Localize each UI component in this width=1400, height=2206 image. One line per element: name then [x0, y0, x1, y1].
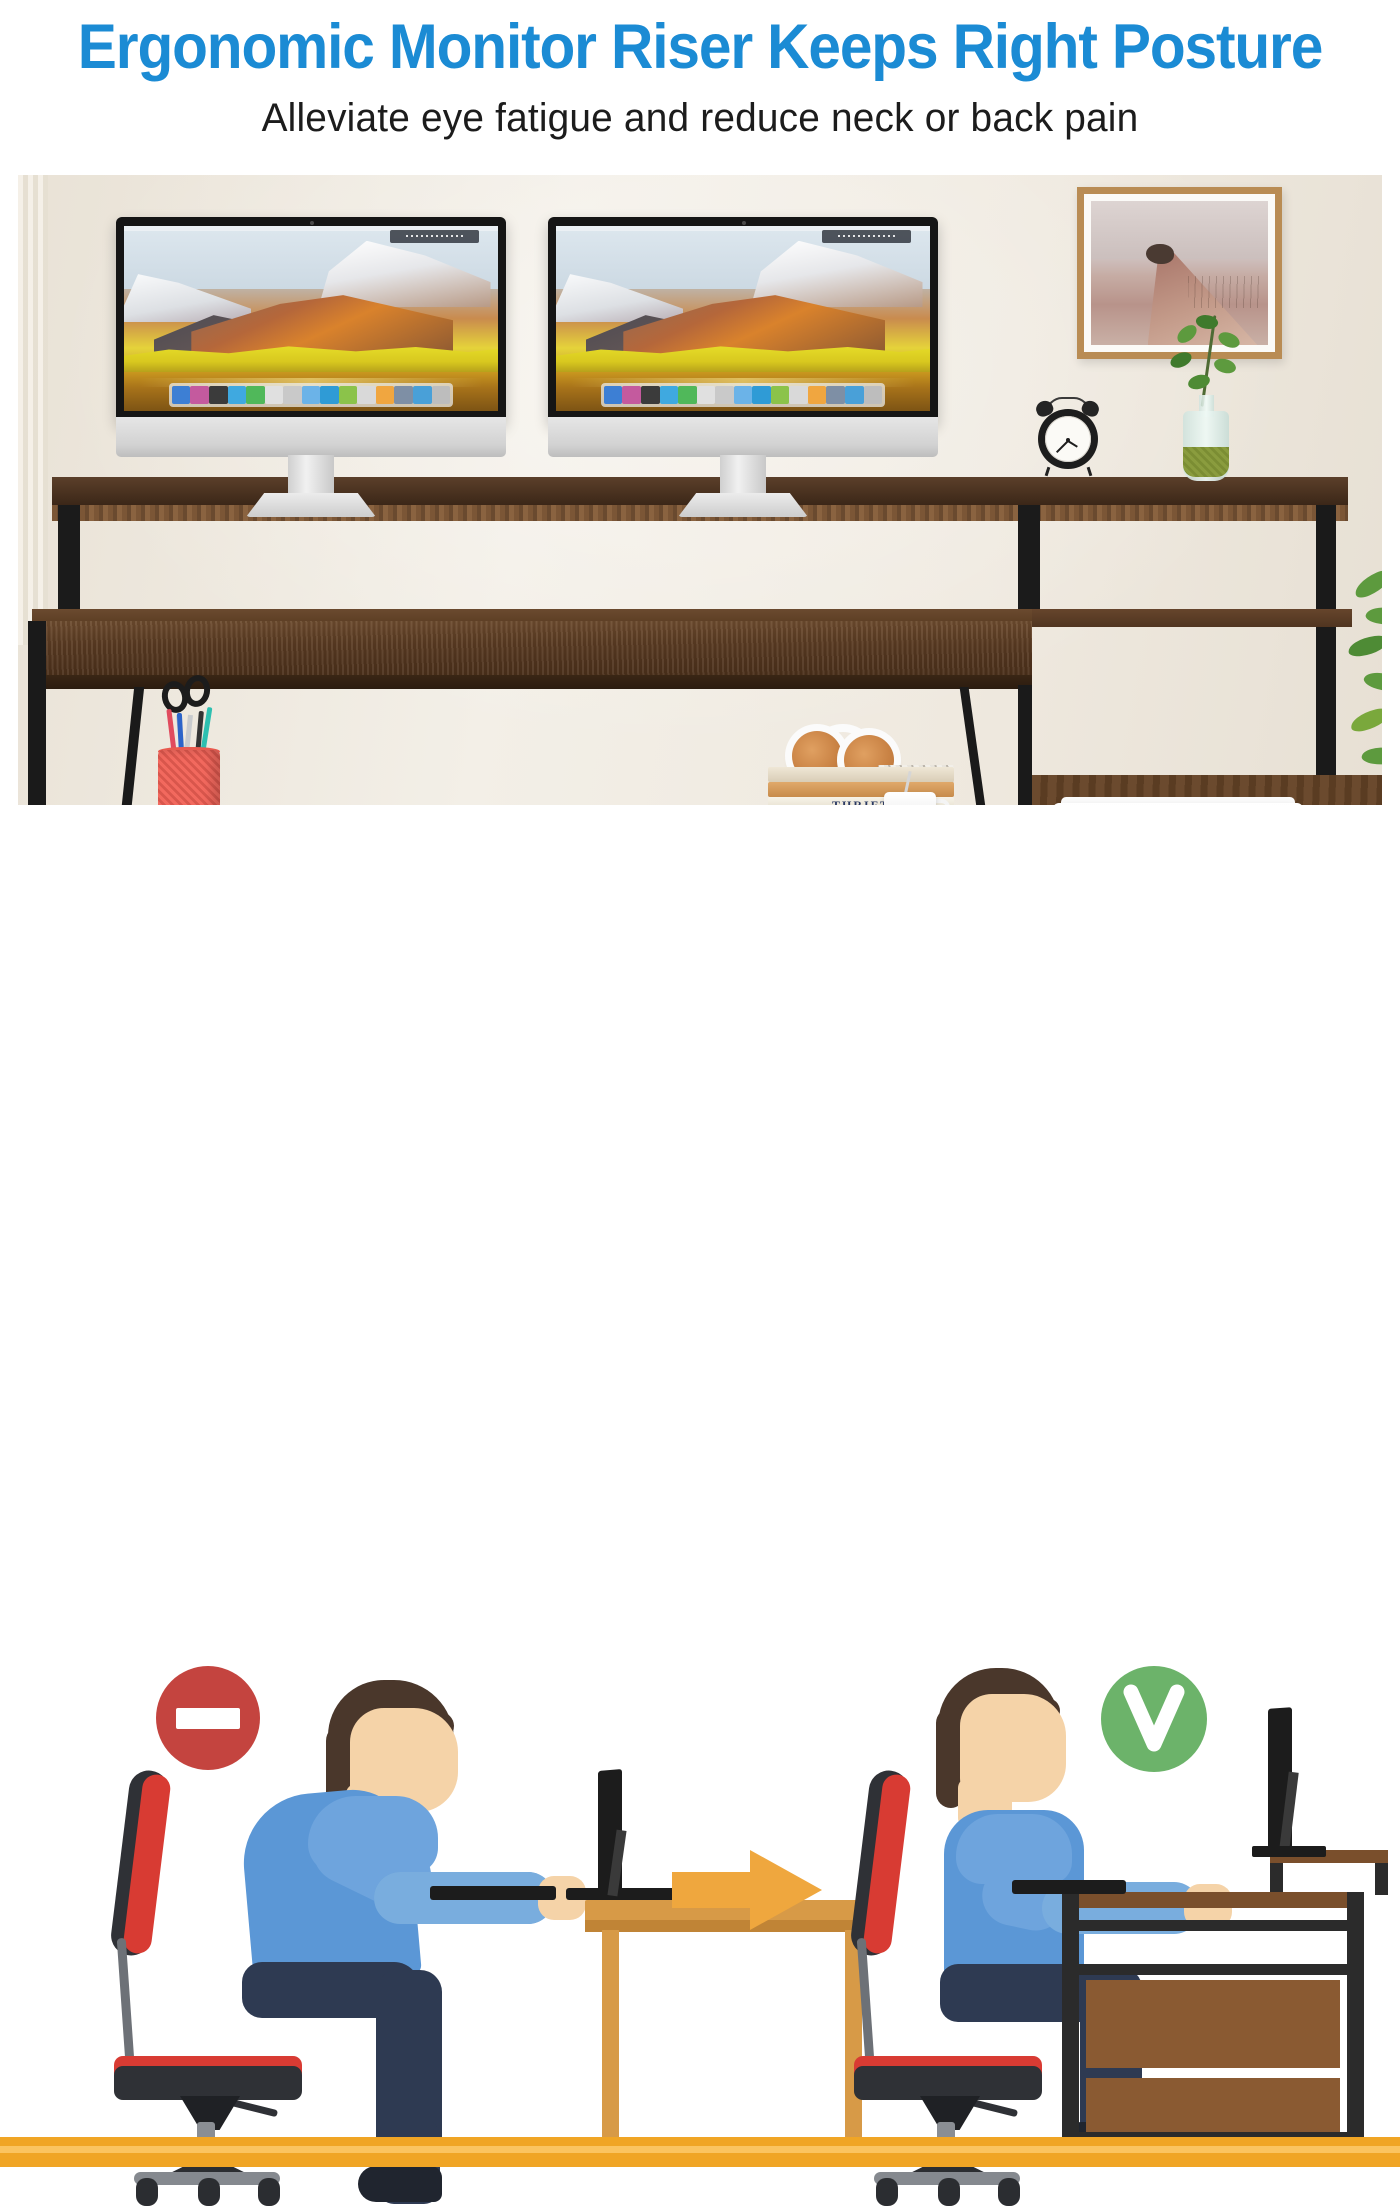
desk-surface: [32, 621, 1032, 677]
dock-icon-itunes[interactable]: [845, 386, 864, 404]
desk-leg-left: [28, 621, 46, 805]
book-top: [768, 767, 954, 782]
chair-caster: [876, 2178, 898, 2206]
dock-icon-facetime[interactable]: [678, 386, 697, 404]
keyboard-bad: [430, 1886, 556, 1900]
desk-post-right: [1316, 505, 1336, 805]
monitor-stand-foot: [678, 493, 808, 517]
art-image: [1091, 201, 1268, 345]
dock-icon-mail[interactable]: [715, 386, 734, 404]
dock-icon-facetime[interactable]: [246, 386, 265, 404]
dock-icon-appstore[interactable]: [376, 386, 395, 404]
dock-icon-music[interactable]: [339, 386, 358, 404]
webcam-icon: [742, 221, 746, 225]
monitor-chin: [548, 417, 938, 457]
dock-icon-maps[interactable]: [752, 386, 771, 404]
chair-caster: [938, 2178, 960, 2206]
keyboard-good: [1012, 1880, 1126, 1894]
dock: [601, 383, 885, 407]
dock-icon-maps[interactable]: [320, 386, 339, 404]
desk-frame-right: [1347, 1892, 1364, 2140]
desk-rail-upper: [1079, 1920, 1347, 1931]
dock-icon-mail[interactable]: [283, 386, 302, 404]
dock-icon-messages[interactable]: [302, 386, 321, 404]
desk-right-extension: [1032, 609, 1352, 627]
floor-highlight: [0, 2146, 1400, 2153]
monitor-bezel: [116, 217, 506, 423]
dock-icon-trash[interactable]: [432, 386, 451, 404]
dock-icon-notes[interactable]: [265, 386, 284, 404]
desk-frame-left: [1062, 1892, 1079, 2140]
chair-caster: [258, 2178, 280, 2206]
chair-caster: [136, 2178, 158, 2206]
monitor-screen: [124, 226, 498, 411]
dock-icon-messages[interactable]: [734, 386, 753, 404]
dock-icon-launchpad[interactable]: [826, 386, 845, 404]
desk-drawer-upper[interactable]: [1086, 1980, 1340, 2068]
clock-foot-left: [1045, 467, 1051, 476]
dock-icon-calendar[interactable]: [357, 386, 376, 404]
monitor-foot-good: [1252, 1846, 1326, 1857]
curtain: [18, 175, 48, 645]
monitor-bezel: [548, 217, 938, 423]
pen-holder: [158, 750, 220, 805]
chair-caster: [998, 2178, 1020, 2206]
person-good-posture: [930, 1668, 1360, 2148]
monitor-stand-neck: [720, 455, 766, 497]
dock-icon-calendar[interactable]: [789, 386, 808, 404]
chair-caster: [198, 2178, 220, 2206]
posture-comparison-illustration: [0, 810, 1400, 1400]
desk-leg-center: [1018, 685, 1032, 805]
alarm-clock: [1032, 397, 1104, 475]
dock-icon-appstore[interactable]: [808, 386, 827, 404]
dock-icon-trash[interactable]: [864, 386, 883, 404]
desk-rail-lower: [1079, 1964, 1347, 1975]
dock-icon-photos[interactable]: [622, 386, 641, 404]
art-texture: [1188, 276, 1259, 308]
dock-icon-music[interactable]: [771, 386, 790, 404]
dock-icon-settings[interactable]: [209, 386, 228, 404]
page-title: Ergonomic Monitor Riser Keeps Right Post…: [49, 14, 1351, 80]
desk-drawer-lower[interactable]: [1086, 2078, 1340, 2134]
menubar-widget: [390, 230, 480, 243]
clock-foot-right: [1087, 467, 1093, 476]
shoe: [358, 2166, 442, 2202]
webcam-icon: [310, 221, 314, 225]
dock: [169, 383, 453, 407]
riser-leg-right: [1018, 505, 1040, 623]
dock-icon-finder[interactable]: [604, 386, 623, 404]
dock-icon-photos[interactable]: [190, 386, 209, 404]
transition-arrow: [672, 1846, 822, 1934]
clock-center-pin: [1066, 438, 1070, 442]
dock-icon-settings[interactable]: [641, 386, 660, 404]
art-rock: [1146, 244, 1174, 264]
dock-icon-launchpad[interactable]: [394, 386, 413, 404]
printer: [1053, 803, 1303, 805]
left-monitor: [116, 217, 506, 457]
riser-leg-left: [58, 505, 80, 623]
product-photo: THRIFT EPSON EPSON: [18, 175, 1382, 805]
vase-woven-wrap: [1183, 447, 1229, 477]
dock-icon-finder[interactable]: [172, 386, 191, 404]
coffee-cup: [884, 792, 936, 805]
header-banner: Ergonomic Monitor Riser Keeps Right Post…: [0, 0, 1400, 172]
art-sky: [1091, 201, 1268, 259]
desk-top: [1062, 1892, 1364, 1908]
monitor-stand-foot: [246, 493, 376, 517]
dock-icon-notes[interactable]: [697, 386, 716, 404]
product-feature-image: Ergonomic Monitor Riser Keeps Right Post…: [0, 0, 1400, 1400]
monitor-screen: [556, 226, 930, 411]
art-mat: [1084, 194, 1275, 352]
right-monitor: [548, 217, 938, 457]
monitor-chin: [116, 417, 506, 457]
wooden-desk-leg-left: [602, 1930, 619, 2140]
menubar-widget: [822, 230, 912, 243]
monitor-stand-neck: [288, 455, 334, 497]
dock-icon-itunes[interactable]: [413, 386, 432, 404]
dock-icon-safari[interactable]: [228, 386, 247, 404]
page-subtitle: Alleviate eye fatigue and reduce neck or…: [21, 94, 1379, 142]
dock-icon-safari[interactable]: [660, 386, 679, 404]
